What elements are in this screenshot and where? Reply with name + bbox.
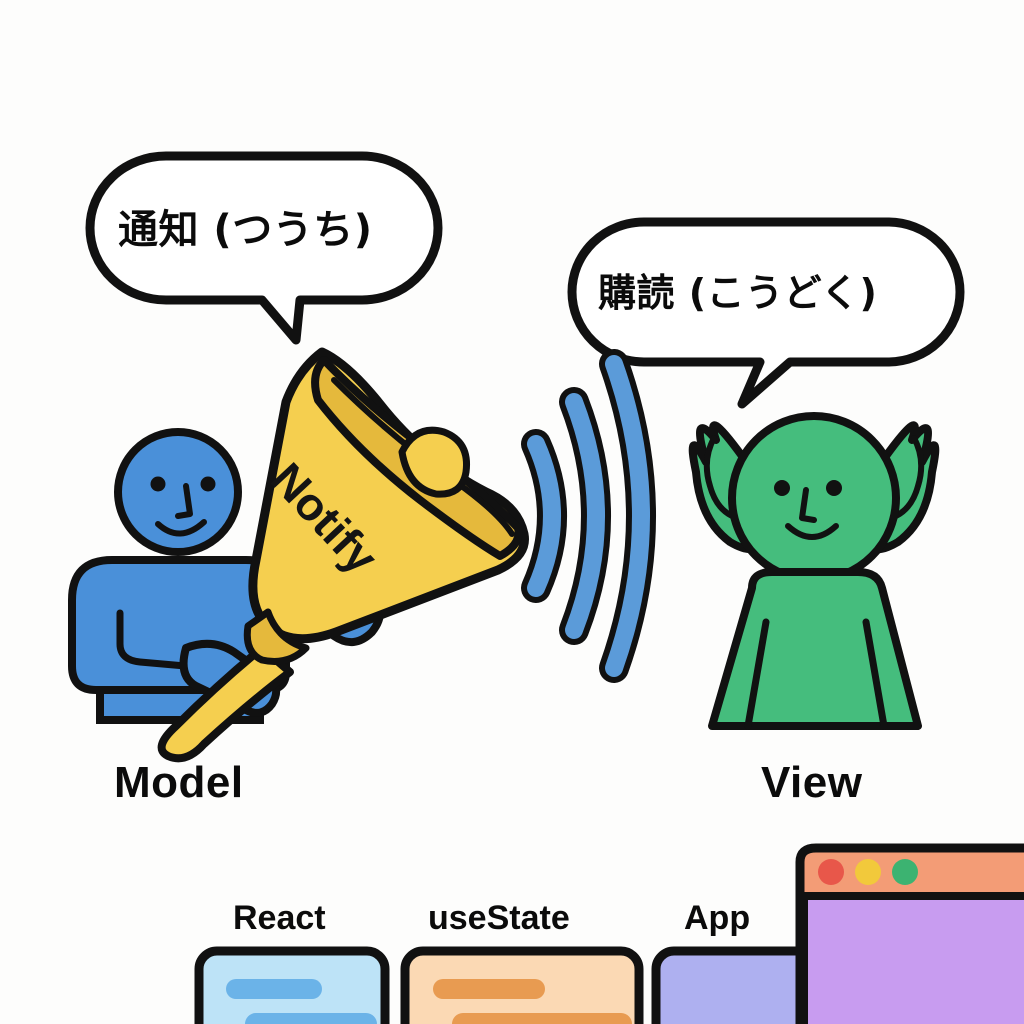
view-right-eye [826, 480, 842, 496]
browser-content [804, 896, 1024, 1024]
sound-waves [536, 364, 641, 668]
view-head [732, 416, 896, 580]
card-react-bar-1 [226, 979, 322, 999]
view-body [712, 572, 918, 726]
card-react-bar-2 [245, 1013, 377, 1024]
model-left-eye [151, 477, 166, 492]
close-dot-icon[interactable] [818, 859, 844, 885]
card-usestate-bar-2 [452, 1013, 632, 1024]
figure-label-model: Model [114, 758, 244, 808]
view-left-eye [774, 480, 790, 496]
card-react[interactable] [199, 951, 385, 1024]
minimize-dot-icon[interactable] [855, 859, 881, 885]
bubble-label-subscribe: 購読 (こうどく) [598, 262, 877, 317]
card-label-react: React [233, 899, 326, 938]
maximize-dot-icon[interactable] [892, 859, 918, 885]
browser-window[interactable] [800, 848, 1024, 1024]
view-figure [693, 416, 936, 726]
figure-label-view: View [761, 758, 862, 808]
card-label-usestate: useState [428, 899, 570, 938]
observer-pattern-illustration [0, 0, 1024, 1024]
card-label-app: App [684, 899, 750, 938]
card-usestate[interactable] [405, 951, 639, 1024]
card-usestate-bar-1 [433, 979, 545, 999]
model-right-eye [201, 477, 216, 492]
illustration-canvas: 通知 (つうち) 購読 (こうどく) Notify Model View Rea… [0, 0, 1024, 1024]
bubble-label-notify: 通知 (つうち) [118, 197, 373, 255]
